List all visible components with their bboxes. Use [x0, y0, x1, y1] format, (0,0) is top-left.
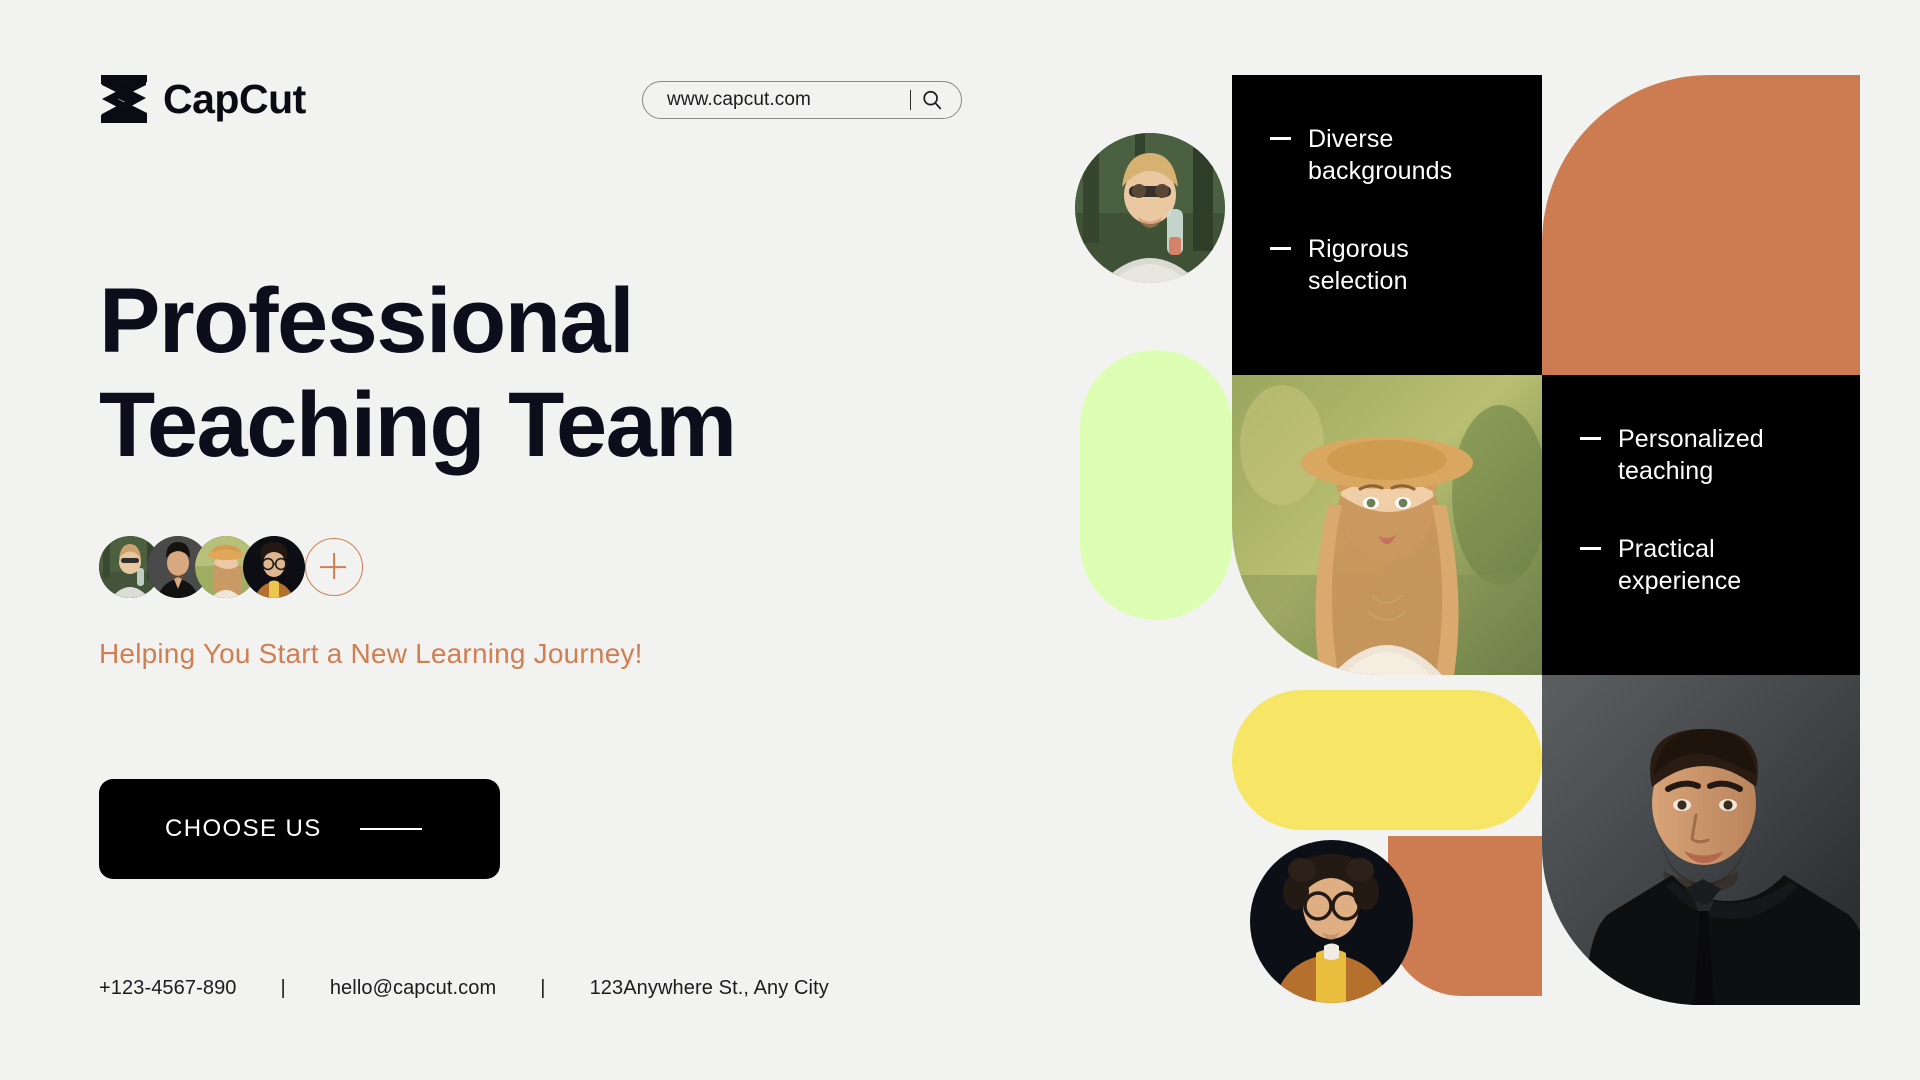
feature-label: Personalized teaching [1618, 423, 1840, 487]
feature-panel-diverse: Diverse backgrounds Rigorous selection [1232, 75, 1542, 375]
footer-address: 123Anywhere St., Any City [590, 977, 829, 1000]
photo-man-glasses-circle-image [1250, 840, 1413, 1003]
feature-panel-personalized: Personalized teaching Practical experien… [1542, 375, 1860, 675]
photo-woman-straw-hat-image [1232, 375, 1542, 675]
choose-us-button[interactable]: CHOOSE US [99, 779, 500, 879]
team-avatar-group [99, 536, 363, 598]
photo-woman-outdoors-circle [1075, 133, 1225, 283]
landing-page: CapCut www.capcut.com Professional Teach… [0, 0, 1920, 1080]
footer-phone[interactable]: +123-4567-890 [99, 977, 237, 1000]
avatar[interactable] [243, 536, 305, 598]
photo-woman-straw-hat [1232, 375, 1542, 675]
feature-item: Diverse backgrounds [1270, 123, 1522, 187]
lime-shape [1080, 350, 1232, 620]
feature-item: Rigorous selection [1270, 233, 1522, 297]
url-text[interactable]: www.capcut.com [667, 89, 900, 111]
dash-bullet-icon [1270, 247, 1291, 250]
cta-label: CHOOSE US [165, 815, 322, 843]
photo-man-glasses-circle [1250, 840, 1413, 1003]
footer-separator-2: | [540, 977, 545, 1000]
avatar-man-glasses [243, 536, 305, 598]
feature-list-2: Personalized teaching Practical experien… [1580, 423, 1840, 597]
search-icon[interactable] [921, 89, 943, 111]
capcut-logo-icon [99, 72, 149, 126]
hero-title-line-2: Teaching Team [99, 374, 736, 476]
dash-bullet-icon [1580, 547, 1601, 550]
feature-item: Personalized teaching [1580, 423, 1840, 487]
page-title: Professional Teaching Team [99, 270, 979, 478]
url-search-bar[interactable]: www.capcut.com [642, 81, 962, 119]
site-header: CapCut [99, 72, 306, 126]
photo-woman-outdoors-circle-image [1075, 133, 1225, 283]
add-member-button[interactable] [305, 538, 363, 596]
yellow-shape [1232, 690, 1542, 830]
feature-label: Diverse backgrounds [1308, 123, 1508, 187]
hero-title-line-1: Professional [99, 270, 633, 372]
photo-man-suit-image [1542, 675, 1860, 1005]
search-divider [910, 90, 912, 110]
footer-separator-1: | [281, 977, 286, 1000]
image-collage: Diverse backgrounds Rigorous selection [1060, 0, 1920, 1080]
photo-man-suit [1542, 675, 1860, 1005]
hero-subtitle: Helping You Start a New Learning Journey… [99, 638, 643, 670]
footer-email[interactable]: hello@capcut.com [330, 977, 496, 1000]
terracotta-shape-top [1542, 75, 1860, 375]
dash-bullet-icon [1270, 137, 1291, 140]
contact-footer: +123-4567-890 | hello@capcut.com | 123An… [99, 977, 829, 1000]
feature-item: Practical experience [1580, 533, 1840, 597]
feature-label: Rigorous selection [1308, 233, 1508, 297]
feature-label: Practical experience [1618, 533, 1840, 597]
brand-logo[interactable]: CapCut [99, 72, 306, 126]
dash-bullet-icon [1580, 437, 1601, 440]
feature-list-1: Diverse backgrounds Rigorous selection [1270, 123, 1522, 297]
line-arrow-icon [360, 828, 422, 830]
brand-name: CapCut [163, 79, 306, 120]
